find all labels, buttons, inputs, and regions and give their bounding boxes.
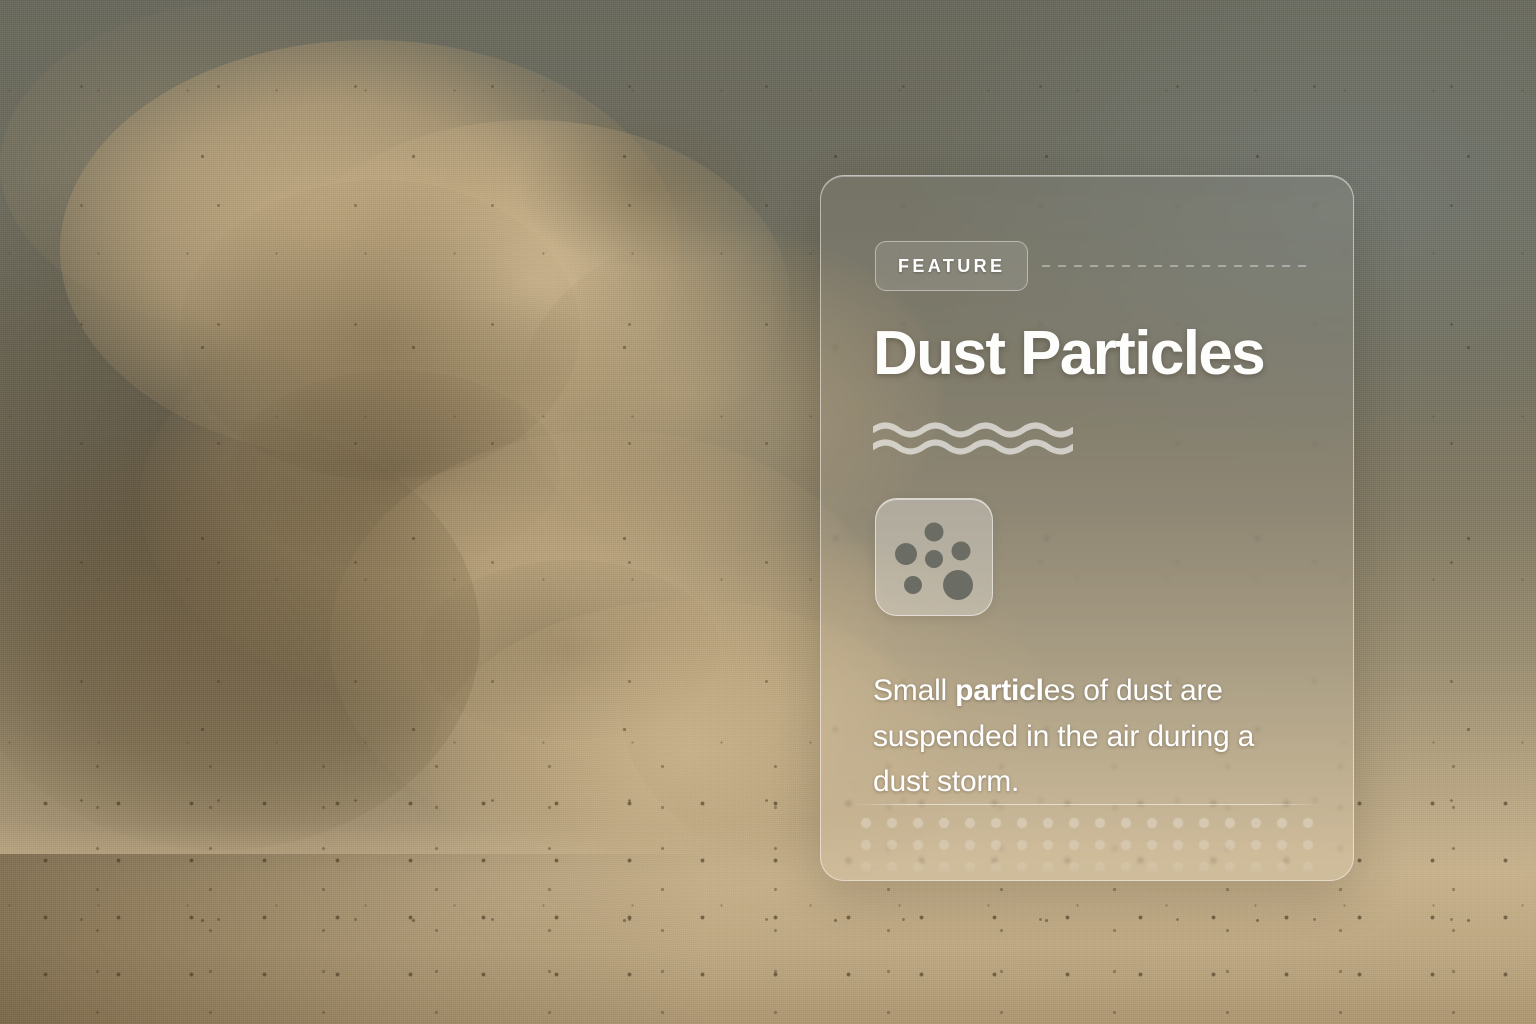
header-dashed-rule xyxy=(1042,265,1307,267)
footer-dot-pattern xyxy=(853,812,1321,878)
footer-divider xyxy=(853,804,1321,805)
description-lead: Small xyxy=(873,674,955,707)
feature-card: FEATURE Dust Particles Small particles xyxy=(820,175,1354,881)
dust-particles-icon xyxy=(876,499,992,615)
card-title: Dust Particles xyxy=(873,321,1323,386)
description-emphasis: particl xyxy=(955,674,1044,707)
card-description: Small particles of dust are suspended in… xyxy=(873,668,1273,805)
wave-accent-icon xyxy=(873,421,1073,455)
feature-badge[interactable]: FEATURE xyxy=(875,241,1028,291)
card-header: FEATURE xyxy=(875,241,1329,291)
icon-tile xyxy=(875,498,993,616)
screenshot-stage: FEATURE Dust Particles Small particles xyxy=(0,0,1536,1024)
